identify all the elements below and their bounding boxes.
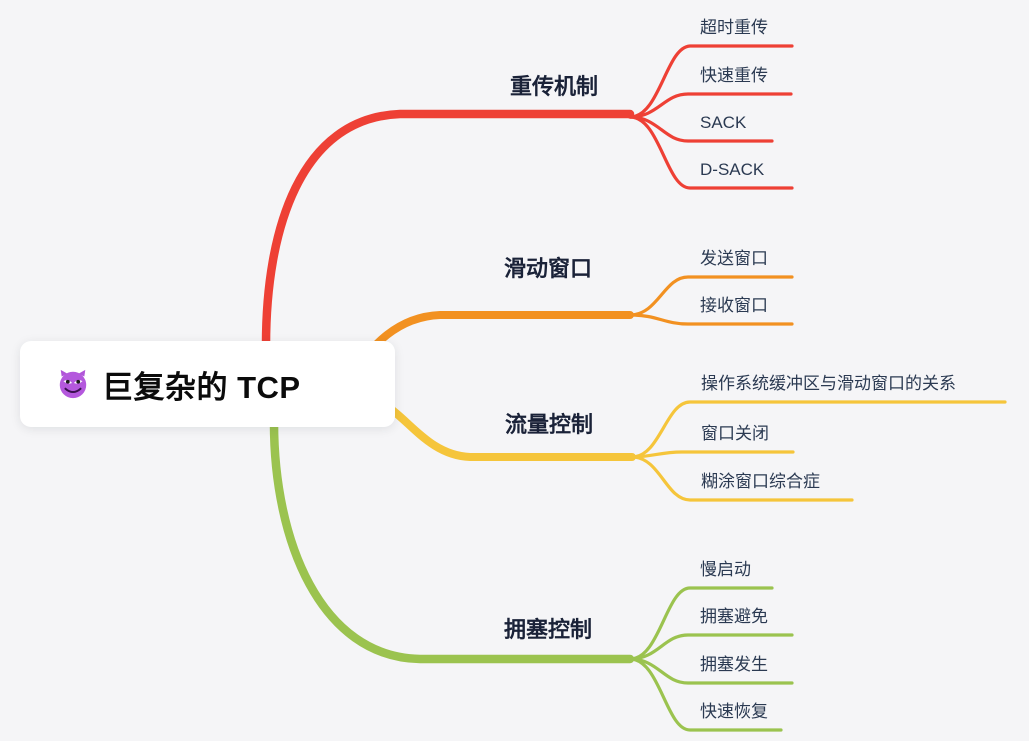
- branch-edges-flow-control: [368, 400, 1005, 500]
- branch-label-retransmission[interactable]: 重传机制: [510, 69, 598, 101]
- child-label-os-buffer-relation[interactable]: 操作系统缓冲区与滑动窗口的关系: [701, 369, 956, 394]
- child-label-congestion-avoidance[interactable]: 拥塞避免: [700, 602, 768, 627]
- child-edge-receive-window: [630, 315, 792, 324]
- child-edge-window-close: [632, 452, 793, 457]
- child-label-dsack[interactable]: D-SACK: [700, 160, 764, 180]
- mindmap-canvas: 巨复杂的 TCP 重传机制 滑动窗口 流量控制 拥塞控制 超时重传 快速重传 S…: [0, 0, 1029, 741]
- child-label-timeout-retransmit[interactable]: 超时重传: [700, 13, 768, 38]
- smiling-devil-emoji: [56, 367, 90, 401]
- trunk-curve-retransmission: [266, 114, 630, 345]
- child-label-receive-window[interactable]: 接收窗口: [700, 291, 768, 316]
- child-edge-os-buffer-relation: [632, 402, 1005, 457]
- child-label-fast-recovery[interactable]: 快速恢复: [700, 697, 768, 722]
- child-label-sack[interactable]: SACK: [700, 113, 746, 133]
- branch-label-congestion-control[interactable]: 拥塞控制: [504, 612, 592, 644]
- root-title: 巨复杂的 TCP: [102, 362, 301, 407]
- child-label-fast-retransmit[interactable]: 快速重传: [700, 61, 768, 86]
- child-label-silly-window-syndrome[interactable]: 糊涂窗口综合症: [701, 467, 820, 492]
- child-label-window-close[interactable]: 窗口关闭: [701, 419, 769, 444]
- root-node[interactable]: 巨复杂的 TCP: [20, 341, 395, 427]
- child-label-send-window[interactable]: 发送窗口: [700, 244, 768, 269]
- child-label-congestion-occurrence[interactable]: 拥塞发生: [700, 650, 768, 675]
- branch-label-flow-control[interactable]: 流量控制: [505, 407, 593, 439]
- child-label-slow-start[interactable]: 慢启动: [700, 555, 751, 580]
- branch-label-sliding-window[interactable]: 滑动窗口: [504, 251, 592, 283]
